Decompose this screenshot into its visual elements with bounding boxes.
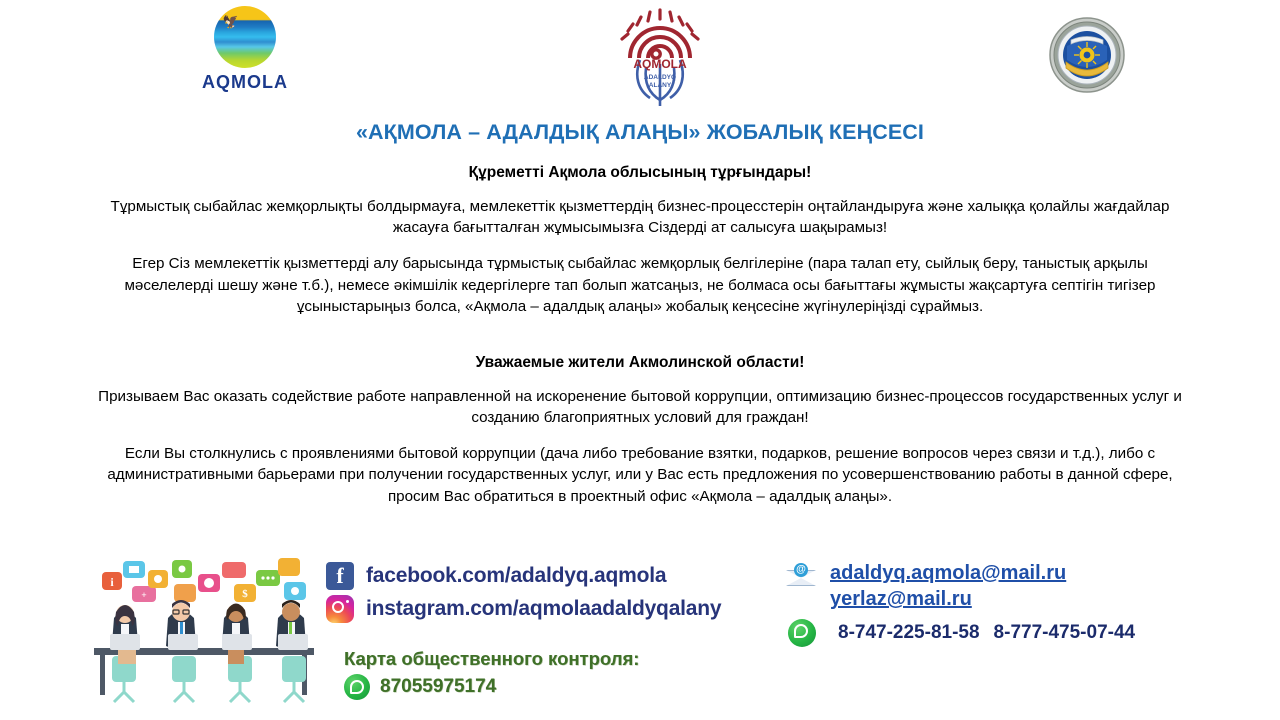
page-title: «АҚМОЛА – АДАЛДЫҚ АЛАҢЫ» ЖОБАЛЫҚ КЕҢСЕСІ — [0, 120, 1280, 146]
kazakh-paragraph-2: Егер Сіз мемлекеттік қызметтерді алу бар… — [92, 253, 1188, 318]
instagram-url[interactable]: instagram.com/aqmolaadaldyqalany — [366, 597, 721, 621]
aqmola-wordmark: AQMOLA — [190, 72, 300, 93]
aqmola-region-logo: 🦅 AQMOLA — [190, 6, 300, 93]
whatsapp-phone-row[interactable]: 8-747-225-81-58 8-777-475-07-44 — [786, 619, 1206, 647]
adaldyq-alany-emblem-icon: AQMOLA ADALDYQ ALANY — [612, 2, 708, 106]
russian-lead: Уважаемые жители Акмолинской области! — [92, 354, 1188, 372]
globe-bird-icon: 🦅 — [214, 6, 276, 68]
public-control-title: Карта общественного контроля: — [344, 648, 764, 670]
email-row: @ adaldyq.aqmola@mail.ru yerlaz@mail.ru — [786, 560, 1206, 613]
public-control-block: Карта общественного контроля: 8705597517… — [344, 648, 764, 700]
emblem-text-adaldyq: ADALDYQ — [644, 74, 676, 81]
kazakhstan-state-emblem — [1040, 16, 1134, 94]
call-center-team-illustration: i + $ — [88, 556, 320, 708]
public-control-phone[interactable]: 87055975174 — [380, 676, 496, 698]
main-content: Құреметті Ақмола облысының тұрғындары! Т… — [92, 146, 1188, 508]
email-link-secondary[interactable]: yerlaz@mail.ru — [830, 586, 1066, 612]
team-at-laptops-icon: i + $ — [88, 556, 320, 708]
kazakh-lead: Құреметті Ақмола облысының тұрғындары! — [92, 164, 1188, 182]
header-logos: 🦅 AQMOLA — [0, 0, 1280, 112]
phone-number-1[interactable]: 8-747-225-81-58 — [838, 622, 980, 644]
whatsapp-icon[interactable] — [344, 674, 370, 700]
public-control-phone-row[interactable]: 87055975174 — [344, 674, 764, 700]
at-symbol-icon: @ — [794, 563, 808, 577]
section-divider — [92, 332, 1188, 354]
emblem-text-aqmola: AQMOLA — [633, 57, 687, 71]
contact-block: @ adaldyq.aqmola@mail.ru yerlaz@mail.ru … — [786, 560, 1206, 647]
whatsapp-icon[interactable] — [788, 619, 816, 647]
kazakh-paragraph-1: Тұрмыстық сыбайлас жемқорлықты болдырмау… — [92, 196, 1188, 239]
instagram-link[interactable]: instagram.com/aqmolaadaldyqalany — [326, 595, 766, 623]
email-envelope-icon: @ — [786, 564, 816, 586]
svg-text:+: + — [141, 590, 146, 600]
aqmola-adaldyq-alany-logo: AQMOLA ADALDYQ ALANY — [612, 2, 708, 106]
russian-paragraph-1: Призываем Вас оказать содействие работе … — [92, 386, 1188, 429]
svg-text:$: $ — [242, 588, 248, 600]
phone-number-2[interactable]: 8-777-475-07-44 — [994, 622, 1136, 644]
state-emblem-icon — [1040, 16, 1134, 94]
footer: i + $ — [0, 548, 1280, 720]
social-links: f facebook.com/adaldyq.aqmola instagram.… — [326, 562, 766, 628]
bird-icon: 🦅 — [222, 14, 240, 29]
facebook-icon[interactable]: f — [326, 562, 354, 590]
email-link-primary[interactable]: adaldyq.aqmola@mail.ru — [830, 560, 1066, 586]
russian-paragraph-2: Если Вы столкнулись с проявлениями бытов… — [92, 443, 1188, 508]
emblem-text-alany: ALANY — [649, 82, 672, 89]
facebook-url[interactable]: facebook.com/adaldyq.aqmola — [366, 564, 666, 588]
instagram-icon[interactable] — [326, 595, 354, 623]
facebook-link[interactable]: f facebook.com/adaldyq.aqmola — [326, 562, 766, 590]
